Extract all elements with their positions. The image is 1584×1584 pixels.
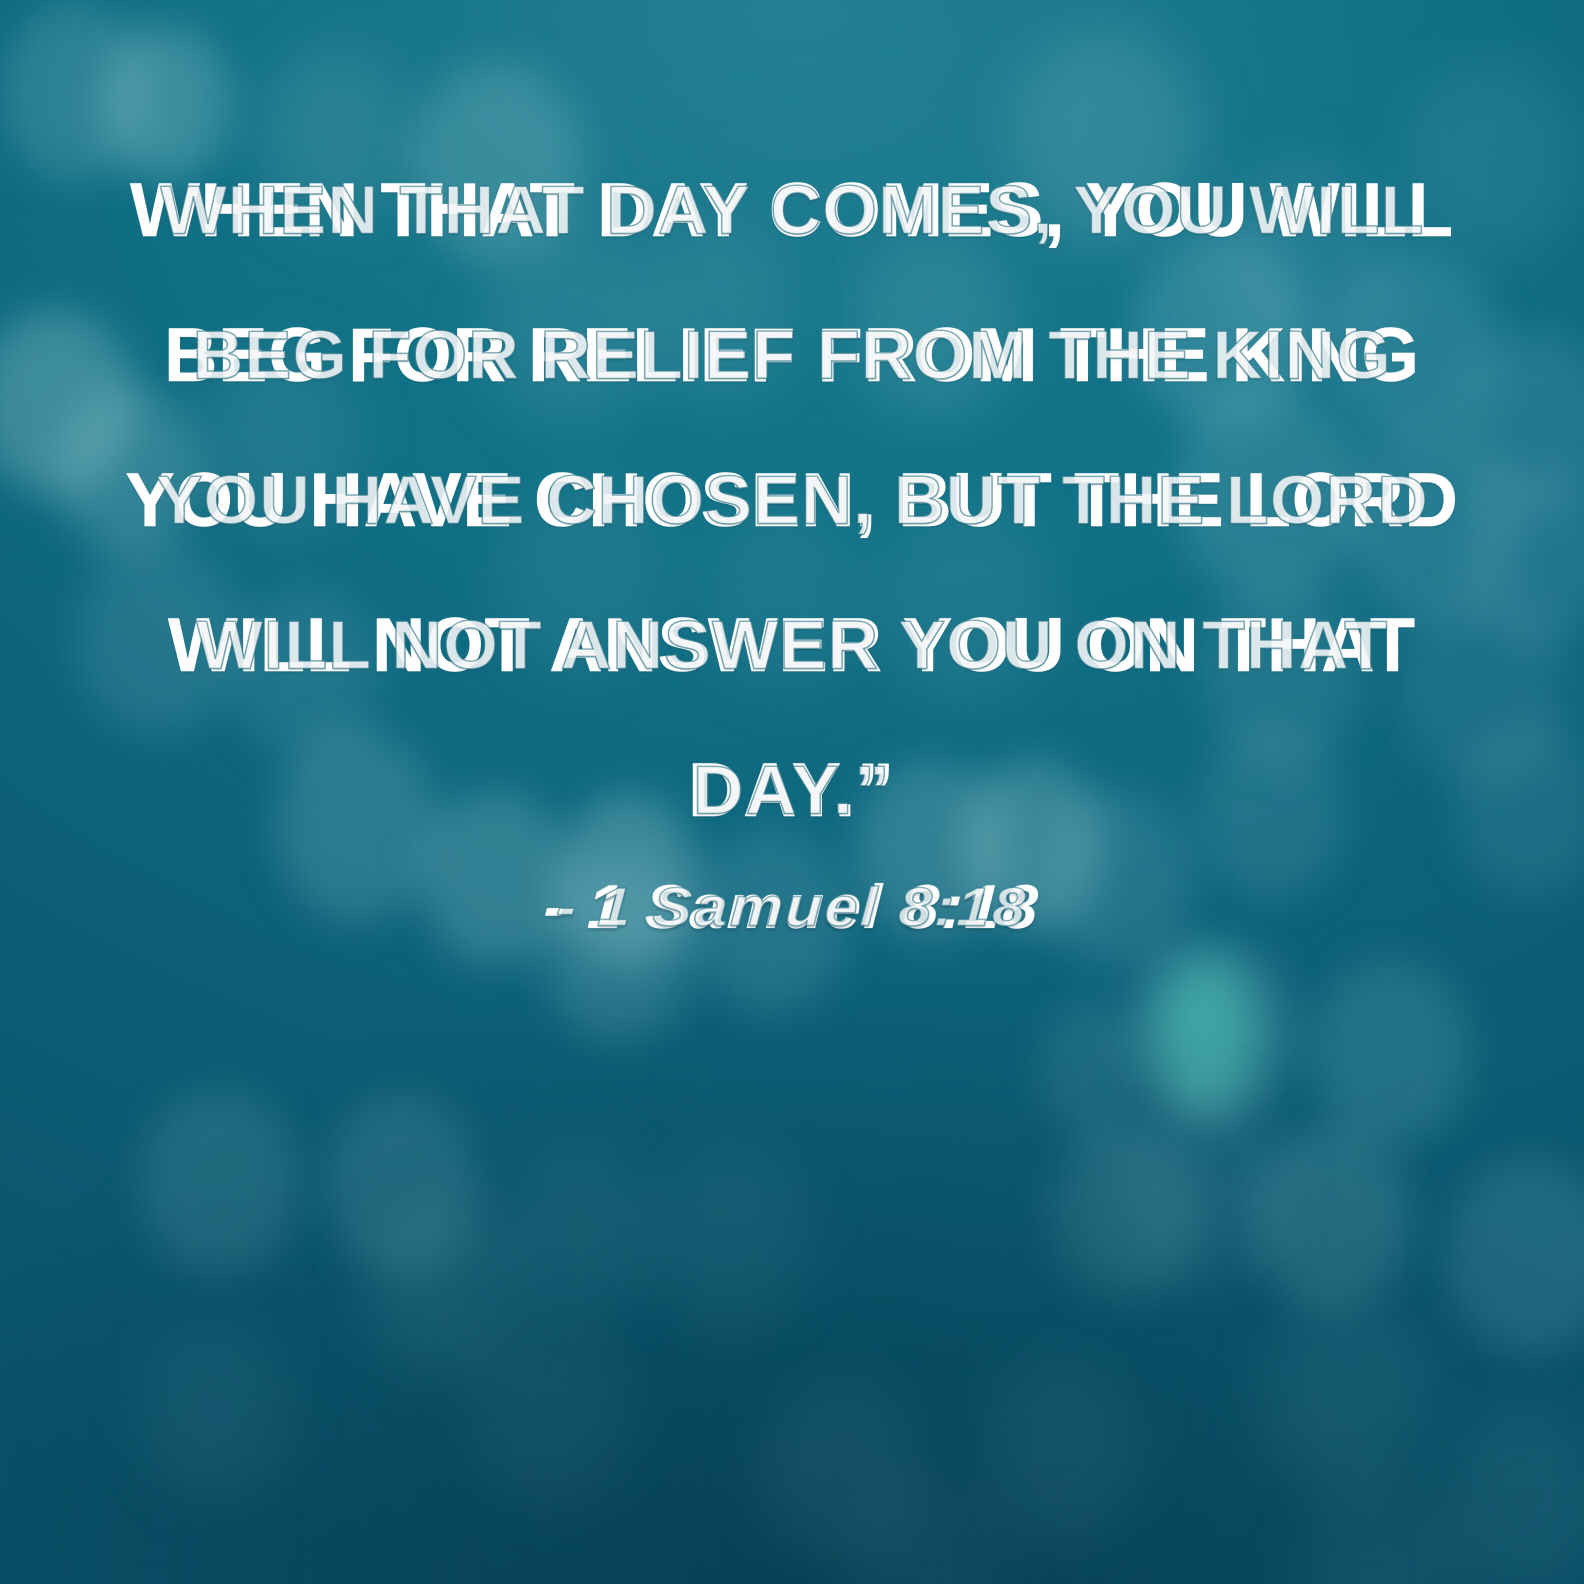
verse-line: When that day comes, you will — [99, 138, 1484, 283]
verse-line-text: beg for relief from the king — [164, 283, 1420, 428]
verse-image-canvas: When that day comes, you willbeg for rel… — [0, 0, 1584, 1584]
verse-line: beg for relief from the king — [99, 283, 1484, 428]
verse-line: day.” — [99, 718, 1484, 863]
attribution-label: - 1 Samuel 8:18 — [542, 872, 1042, 943]
verse-text-block: When that day comes, you willbeg for rel… — [0, 138, 1584, 863]
verse-line-text: When that day comes, you will — [130, 138, 1454, 283]
verse-line: you have chosen, but the LORD — [99, 428, 1484, 573]
verse-line: will not answer you on that — [99, 573, 1484, 718]
verse-line-text: day.” — [688, 718, 896, 863]
verse-line-text: will not answer you on that — [168, 573, 1416, 718]
verse-attribution: - 1 Samuel 8:18 — [0, 872, 1584, 943]
verse-line-text: you have chosen, but the LORD — [125, 428, 1458, 573]
